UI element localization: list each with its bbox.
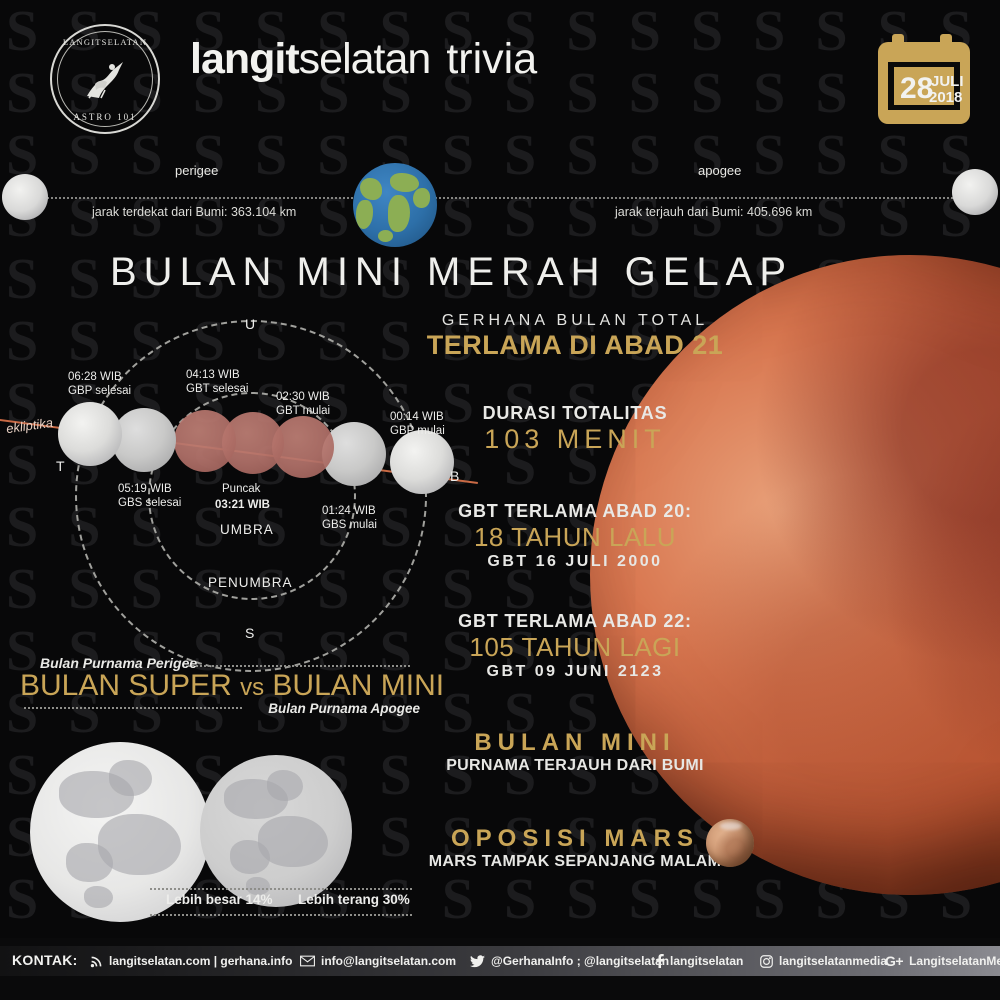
phase-label-time-5: 06:28 WIB — [68, 370, 122, 384]
compare-title-a: BULAN SUPER — [20, 669, 232, 702]
stats-kicker: GERHANA BULAN TOTAL — [420, 312, 730, 330]
footer-item-0[interactable]: langitselatan.com | gerhana.info — [90, 954, 292, 968]
stats-headline: TERLAMA DI ABAD 21 — [420, 330, 730, 361]
footer-item-5[interactable]: G+LangitselatanMedia — [885, 953, 1000, 969]
minimoon-illustration — [200, 755, 352, 907]
brand-bold: langit — [190, 35, 299, 83]
heading-dash-bottom — [24, 707, 242, 709]
facebook-icon — [655, 954, 664, 968]
compare-title: BULAN SUPER vs BULAN MINI — [20, 669, 420, 703]
svg-text:2018: 2018 — [929, 89, 962, 106]
logo-bottom-text: ASTRO 101 — [52, 112, 158, 122]
century20-date: GBT 16 JULI 2000 — [420, 553, 730, 571]
brand-light: selatan — [299, 35, 431, 83]
contact-bar: langitselatan.com | gerhana.infoinfo@lan… — [0, 946, 1000, 976]
brand-trivia: trivia — [446, 35, 537, 83]
earth-globe-icon — [353, 163, 437, 247]
phase-moon-gbs-selesai — [112, 408, 176, 472]
footer-item-2[interactable]: @GerhanaInfo ; @langitselatan — [470, 954, 669, 968]
century20-value: 18 TAHUN LALU — [420, 522, 730, 553]
footer-item-1[interactable]: info@langitselatan.com — [300, 954, 456, 968]
ecliptic-label: ekliptika — [5, 415, 54, 436]
horse-rider-icon — [79, 56, 131, 102]
phase-label-event-4: GBS selesai — [118, 496, 181, 510]
caption-bigger: Lebih besar 14% — [166, 892, 273, 907]
phase-label-event-3: GBT selesai — [186, 382, 248, 396]
moon-icon-perigee — [2, 174, 48, 220]
compare-title-b: BULAN MINI — [272, 669, 444, 702]
infographic-poster: SSSSSSSSSSSSSSSSSSSSSSSSSSSSSSSSSSSSSSSS… — [0, 0, 1000, 1000]
footer-item-3[interactable]: langitselatan — [655, 954, 743, 968]
phase-label-event-2: GBT mulai — [276, 404, 330, 418]
perigee-label: perigee — [175, 163, 218, 178]
mars-polar-cap — [720, 822, 742, 830]
century22-label: GBT TERLAMA ABAD 22: — [420, 611, 730, 632]
mars-title: OPOSISI MARS — [420, 825, 730, 853]
rss-icon — [90, 955, 103, 968]
phase-moon-gbt-selesai — [174, 410, 236, 472]
phase-label-time-1: 01:24 WIB — [322, 504, 376, 518]
contact-footer: langitselatan.com | gerhana.infoinfo@lan… — [0, 938, 1000, 1000]
century22-date: GBT 09 JUNI 2123 — [420, 663, 730, 681]
axis-label-west: T — [56, 458, 65, 474]
apogee-distance: jarak terjauh dari Bumi: 405.696 km — [615, 205, 812, 219]
century20-label: GBT TERLAMA ABAD 20: — [420, 501, 730, 522]
compare-title-vs: vs — [240, 674, 264, 701]
moon-icon-apogee — [952, 169, 998, 215]
peak-label: Puncak — [222, 482, 260, 496]
footer-item-label: info@langitselatan.com — [321, 954, 456, 968]
googleplus-icon: G+ — [885, 953, 903, 969]
footer-item-label: langitselatan — [670, 954, 743, 968]
footer-item-label: langitselatanmedia — [779, 954, 887, 968]
supermoon-vs-minimoon-heading: Bulan Purnama Perigee BULAN SUPER vs BUL… — [20, 655, 420, 716]
duration-value: 103 MENIT — [420, 424, 730, 455]
minimoon-sub: PURNAMA TERJAUH DARI BUMI — [420, 757, 730, 775]
page-title: BULAN MINI MERAH GELAP — [110, 250, 793, 295]
footer-item-label: @GerhanaInfo ; @langitselatan — [491, 954, 669, 968]
twitter-icon — [470, 955, 485, 968]
apogee-label: apogee — [698, 163, 741, 178]
svg-text:JULI: JULI — [931, 73, 964, 90]
phase-moon-gbp-selesai — [58, 402, 122, 466]
envelope-icon — [300, 955, 315, 967]
phase-label-event-5: GBP selesai — [68, 384, 131, 398]
phase-label-time-3: 04:13 WIB — [186, 368, 240, 382]
phase-label-time-2: 02:30 WIB — [276, 390, 330, 404]
peak-time: 03:21 WIB — [215, 498, 270, 512]
century22-value: 105 TAHUN LAGI — [420, 632, 730, 663]
stats-column: GERHANA BULAN TOTAL TERLAMA DI ABAD 21 D… — [420, 312, 730, 871]
axis-label-south: S — [245, 625, 254, 641]
orbit-dotted-line — [40, 197, 960, 199]
footer-item-label: LangitselatanMedia — [909, 954, 1000, 968]
footer-item-4[interactable]: langitselatanmedia — [760, 954, 887, 968]
langitselatan-logo: LANGITSELATAN ASTRO 101 — [50, 24, 160, 134]
penumbra-label: PENUMBRA — [208, 575, 293, 590]
instagram-icon — [760, 955, 773, 968]
caption-brighter: Lebih terang 30% — [298, 892, 410, 907]
mars-sub: MARS TAMPAK SEPANJANG MALAM — [420, 853, 730, 871]
perigee-apogee-band: perigee jarak terdekat dari Bumi: 363.10… — [0, 155, 1000, 245]
perigee-distance: jarak terdekat dari Bumi: 363.104 km — [92, 205, 296, 219]
footer-item-label: langitselatan.com | gerhana.info — [109, 954, 292, 968]
calendar-icon: 28 JULI 2018 — [874, 30, 974, 128]
logo-top-text: LANGITSELATAN — [52, 37, 158, 47]
mars-planet-icon — [706, 819, 754, 867]
duration-label: DURASI TOTALITAS — [420, 403, 730, 424]
heading-dash-top — [188, 665, 410, 667]
umbra-label: UMBRA — [220, 522, 274, 537]
brand-title: langitselatantrivia — [190, 38, 537, 81]
kontak-label: KONTAK: — [12, 952, 78, 968]
minimoon-title: BULAN MINI — [420, 729, 730, 757]
phase-label-event-1: GBS mulai — [322, 518, 377, 532]
phase-label-time-4: 05:19 WIB — [118, 482, 172, 496]
axis-label-north: U — [245, 316, 255, 332]
eclipse-path-diagram: U S T B ekliptika UMBRA PENUMBRA Puncak … — [0, 300, 470, 660]
